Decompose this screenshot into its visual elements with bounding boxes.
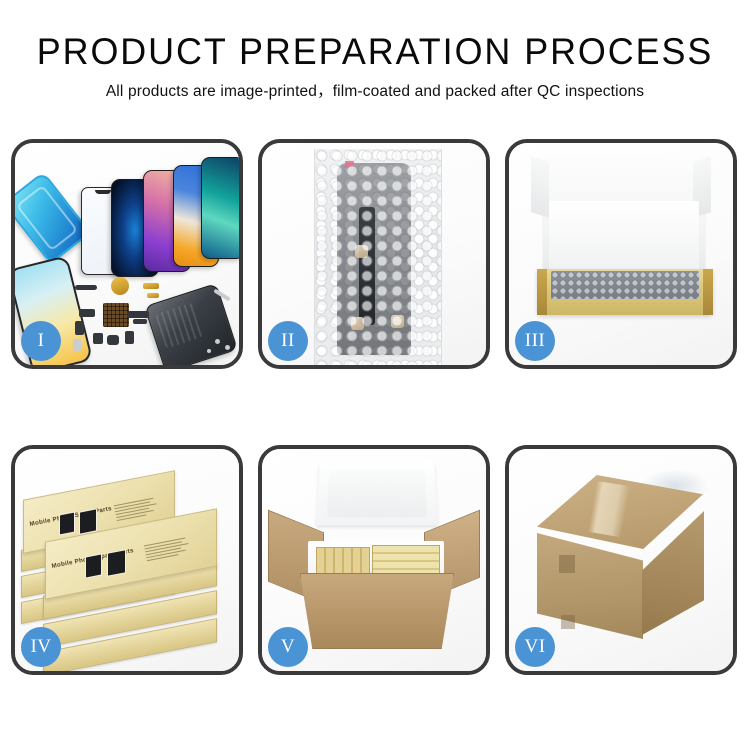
part-flex-cable: [127, 311, 149, 318]
wrapped-connector-2: [351, 317, 364, 330]
part-chip-array: [103, 303, 129, 327]
step-badge-4: IV: [21, 627, 61, 667]
step-badge-3: III: [515, 321, 555, 361]
part-connector-1: [79, 309, 95, 317]
process-step-panel-3: III: [505, 139, 737, 369]
part-connector-2: [75, 321, 84, 335]
carton-mark-1: [559, 555, 575, 573]
process-step-panel-5: V: [258, 445, 490, 675]
page-subtitle: All products are image-printed，film-coat…: [0, 81, 750, 103]
part-gold-flex-2: [147, 293, 159, 298]
part-screw-3: [207, 349, 211, 353]
step-badge-1: I: [21, 321, 61, 361]
boxed-contents-image: [551, 271, 699, 299]
part-strip-1: [75, 285, 97, 290]
foam-insert-image: [549, 201, 699, 277]
bubble-wrap-bag-image: [314, 149, 442, 365]
box-lid-flap-left: [531, 156, 549, 217]
process-step-panel-4: Mobile Phone Spare Parts Mobile Phone Sp…: [11, 445, 243, 675]
process-step-panel-2: II: [258, 139, 490, 369]
process-step-panel-1: I: [11, 139, 243, 369]
page-header: PRODUCT PREPARATION PROCESS All products…: [0, 0, 750, 103]
part-screw-2: [225, 345, 230, 350]
page-title: PRODUCT PREPARATION PROCESS: [11, 30, 739, 74]
wrapped-connector-3: [391, 315, 404, 328]
step-badge-2: II: [268, 321, 308, 361]
part-gold-coil: [111, 277, 129, 295]
carton-body-image: [300, 573, 454, 649]
part-speaker: [107, 335, 119, 345]
box-thumbnail-rear-1: [59, 511, 75, 535]
part-flex-cable-2: [133, 319, 147, 324]
part-bracket-2: [125, 331, 134, 344]
sealed-carton-left-face: [537, 533, 643, 639]
styrofoam-lid-image: [316, 460, 437, 525]
process-steps-grid: I II III: [11, 139, 739, 675]
wrapped-screen-label: [345, 161, 354, 168]
box-thumbnail-front-1: [85, 553, 102, 578]
step-badge-6: VI: [515, 627, 555, 667]
part-screw-1: [215, 339, 220, 344]
box-thumbnail-rear-2: [79, 508, 97, 534]
phone-display-teal-image: [201, 157, 239, 259]
part-button-1: [73, 339, 81, 351]
box-thumbnail-front-2: [107, 549, 126, 577]
step-badge-5: V: [268, 627, 308, 667]
part-gold-flex: [143, 283, 159, 289]
process-step-panel-6: VI: [505, 445, 737, 675]
part-bracket-1: [93, 333, 103, 344]
wrapped-flex-cable: [359, 207, 375, 325]
carton-mark-2: [561, 615, 575, 629]
wrapped-connector-1: [355, 245, 368, 258]
